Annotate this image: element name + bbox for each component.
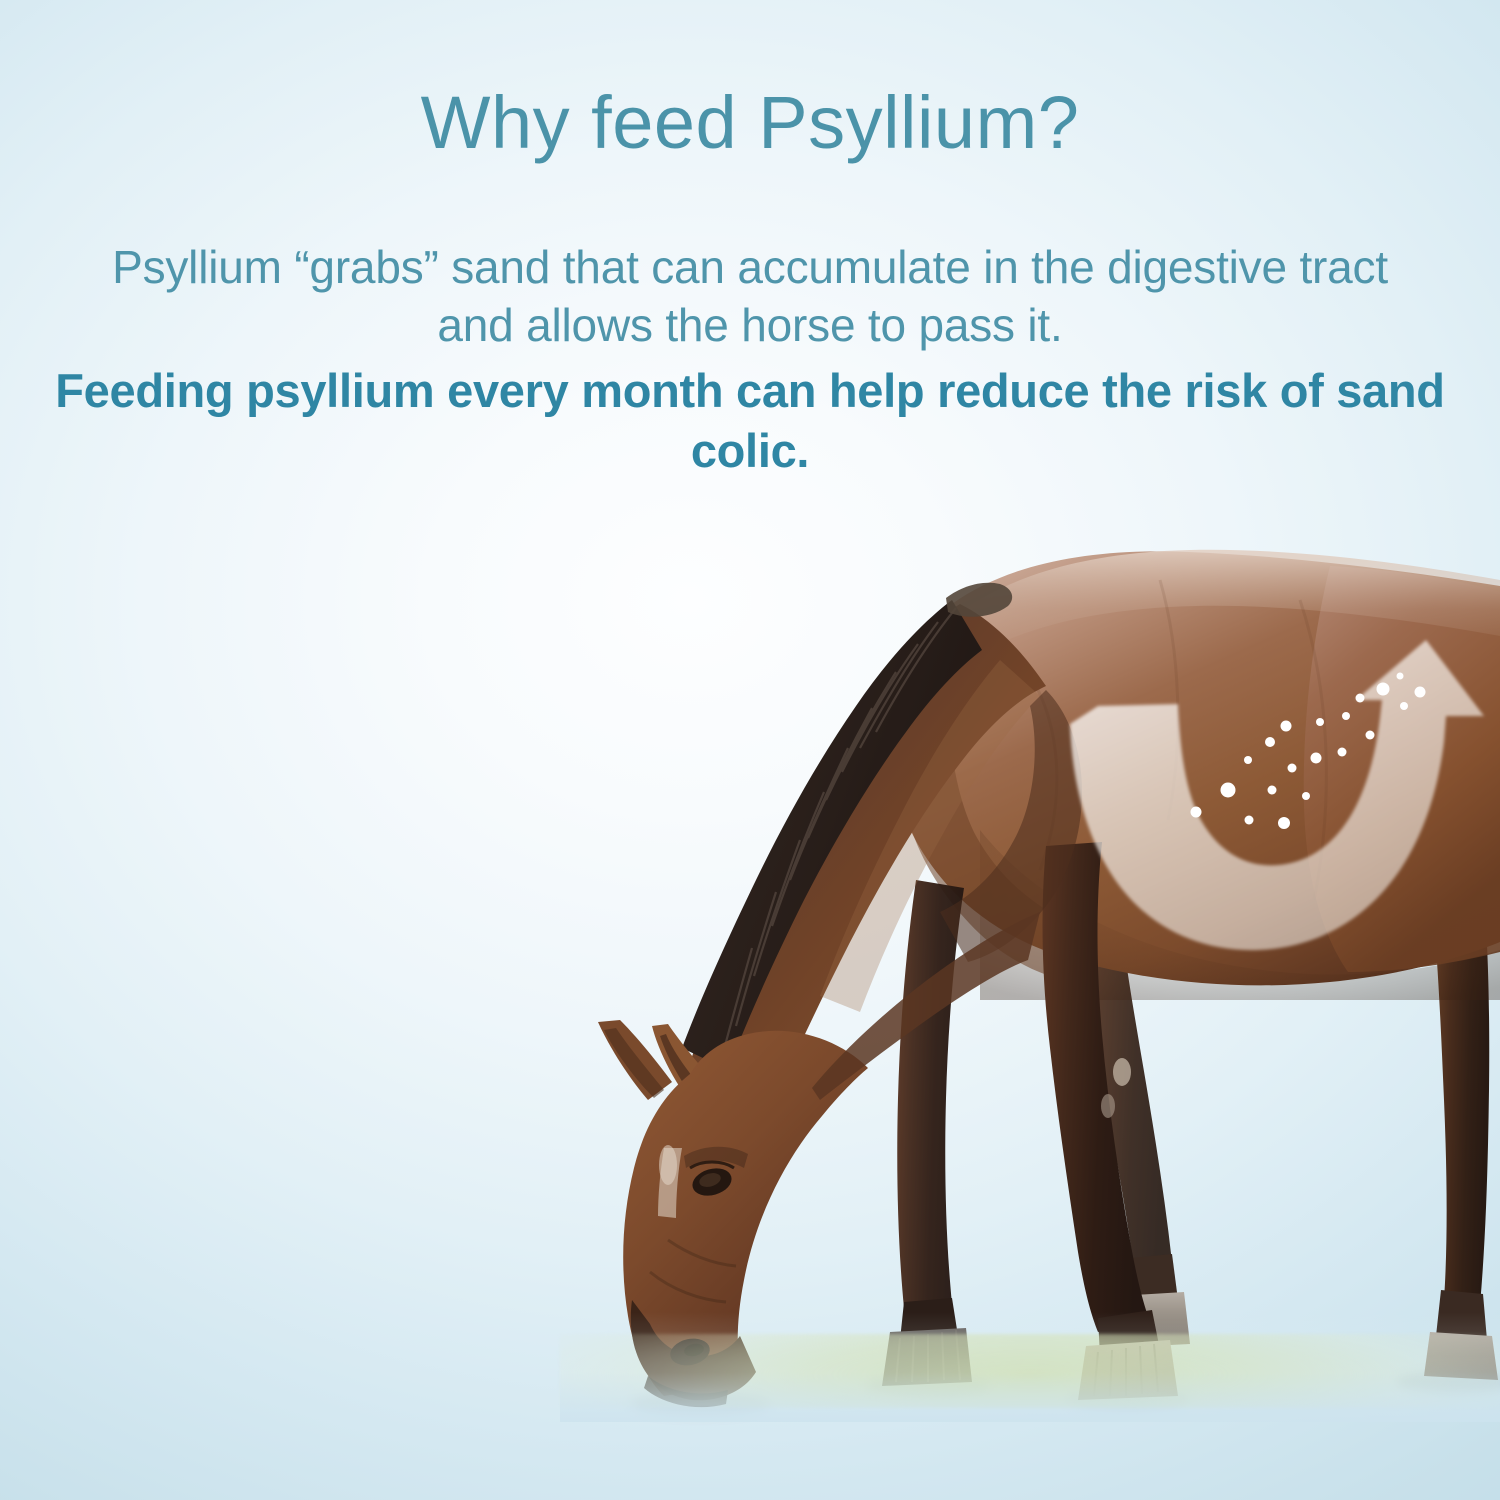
body-paragraph: Psyllium “grabs” sand that can accumulat… (85, 238, 1415, 355)
copy-block: Why feed Psyllium? Psyllium “grabs” sand… (0, 0, 1500, 482)
horse-front-leg-second (882, 880, 972, 1386)
page-title: Why feed Psyllium? (0, 86, 1500, 160)
emphasis-paragraph: Feeding psyllium every month can help re… (50, 361, 1450, 482)
grass-strip (560, 1334, 1500, 1408)
psyllium-infographic-poster: Why feed Psyllium? Psyllium “grabs” sand… (0, 0, 1500, 1500)
